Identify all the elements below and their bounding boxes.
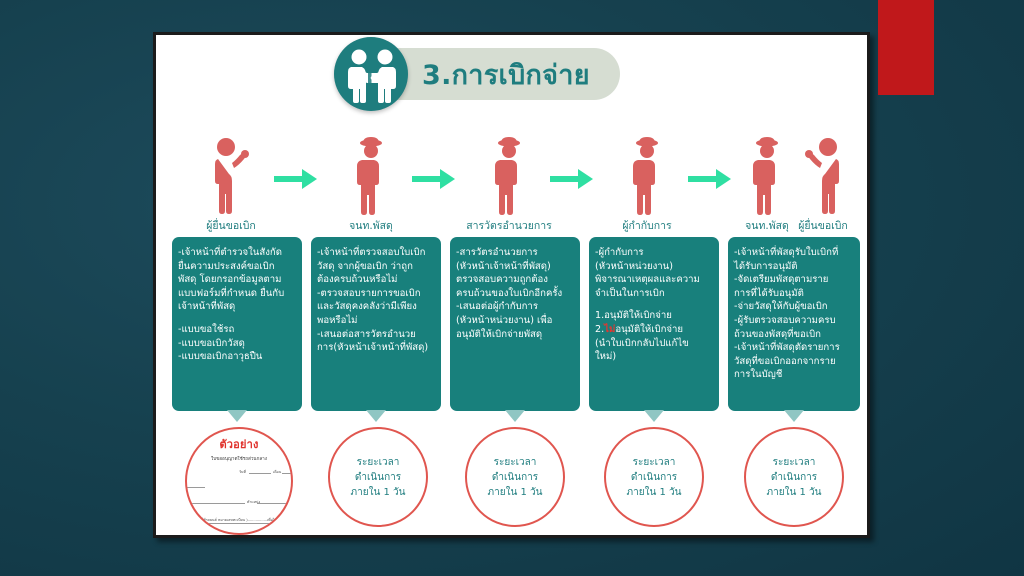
step-2-line-7: -เสนอต่อสารวัตรอำนวย (317, 328, 434, 342)
flow-arrow-3 (550, 167, 594, 191)
person-label-5: จนท.พัสดุ (745, 217, 789, 234)
person-figure-4 (627, 135, 667, 219)
step-3-line-4: ครบถ้วนของใบเบิกอีกครั้ง (456, 287, 573, 301)
step-2-line-5: และวัสดุคงคลังว่ามีเพียง (317, 300, 434, 314)
step-2-line-1: -เจ้าหน้าที่ตรวจสอบใบเบิก (317, 246, 434, 260)
step-box-1: -เจ้าหน้าที่ตำรวจในสังกัด ยื่นความประสงค… (172, 237, 302, 411)
step-1-line-5: เจ้าหน้าที่พัสดุ (178, 300, 295, 314)
step-1-line-4: แบบฟอร์มที่กำหนด ยื่นกับ (178, 287, 295, 301)
step-4-tail-icon (644, 410, 664, 422)
page-title: 3.การเบิกจ่าย (422, 53, 590, 96)
duration-circles-row: ตัวอย่าง ใบขออนุญาตใช้รถส่วนกลาง วันที่ … (156, 427, 870, 537)
step-2-line-6: พอหรือไม่ (317, 314, 434, 328)
step-5-line-2: ได้รับการอนุมัติ (734, 260, 853, 274)
person-label-2: จนท.พัสดุ (349, 217, 393, 234)
decorative-red-block (878, 0, 934, 95)
step-3-line-6: (หัวหน้าหน่วยงาน) เพื่อ (456, 314, 573, 328)
step-2-line-8: การ(หัวหน้าเจ้าหน้าที่พัสดุ) (317, 341, 434, 355)
process-step-boxes: -เจ้าหน้าที่ตำรวจในสังกัด ยื่นความประสงค… (156, 237, 870, 419)
step-4-line-3: พิจารณาเหตุผลและความ (595, 273, 712, 287)
duration-2-line-2: ดำเนินการ (492, 470, 538, 485)
sample-doc-rule-4 (187, 503, 245, 504)
step-3-line-3: ตรวจสอบความถูกต้อง (456, 273, 573, 287)
step-5-line-4: การที่ได้รับอนุมัติ (734, 287, 853, 301)
step-3-line-7: อนุมัติให้เบิกจ่ายพัสดุ (456, 328, 573, 342)
duration-3-line-3: ภายใน 1 วัน (627, 485, 682, 500)
sample-doc-rule-5 (257, 503, 293, 504)
duration-3-line-1: ระยะเวลา (633, 455, 676, 470)
person-figure-2 (351, 135, 391, 219)
two-people-handover-icon (334, 37, 408, 111)
person-label-3: สารวัตรอำนวยการ (466, 217, 552, 234)
step-5-line-5: -จ่ายวัสดุให้กับผู้ขอเบิก (734, 300, 853, 314)
step-5-line-7: ถ้วนของพัสดุที่ขอเบิก (734, 328, 853, 342)
step-5-line-10: การในบัญชี (734, 368, 853, 382)
person-figure-5 (747, 135, 787, 219)
step-2-tail-icon (366, 410, 386, 422)
step-4-option-2-prefix: 2. (595, 324, 604, 335)
step-5-line-1: -เจ้าหน้าที่พัสดุรับใบเบิกที่ (734, 246, 853, 260)
sample-doc-rule-1 (249, 473, 271, 474)
step-4-option-1: 1.อนุมัติให้เบิกจ่าย (595, 309, 712, 323)
flow-arrow-2 (412, 167, 456, 191)
duration-3-line-2: ดำเนินการ (631, 470, 677, 485)
sample-doc-field-month: เดือน (273, 469, 281, 475)
sample-doc-field-position: ตำแหน่ง (247, 499, 260, 505)
step-5-tail-icon (784, 410, 804, 422)
process-actors-row (156, 135, 870, 223)
sample-document-subtitle: ใบขออนุญาตใช้รถส่วนกลาง (187, 456, 291, 463)
step-2-line-4: -ตรวจสอบรายการขอเบิก (317, 287, 434, 301)
step-4-option-2-negation: ไม่ (604, 324, 615, 335)
sample-doc-rule-3 (187, 487, 205, 488)
duration-1-line-3: ภายใน 1 วัน (351, 485, 406, 500)
sample-doc-rule-6 (187, 523, 293, 524)
step-2-line-3: ต้องครบถ้วนหรือไม่ (317, 273, 434, 287)
step-3-line-5: -เสนอต่อผู้กำกับการ (456, 300, 573, 314)
step-4-note-2: ใหม่) (595, 350, 712, 364)
step-box-5: -เจ้าหน้าที่พัสดุรับใบเบิกที่ ได้รับการอ… (728, 237, 860, 411)
duration-4-line-3: ภายใน 1 วัน (767, 485, 822, 500)
step-4-line-1: -ผู้กำกับการ (595, 246, 712, 260)
duration-circle-1: ระยะเวลา ดำเนินการ ภายใน 1 วัน (328, 427, 428, 527)
step-4-option-1-prefix: 1. (595, 310, 604, 321)
sample-doc-field-date: วันที่ (239, 469, 246, 475)
step-2-line-2: วัสดุ จากผู้ขอเบิก ว่าถูก (317, 260, 434, 274)
duration-1-line-2: ดำเนินการ (355, 470, 401, 485)
step-1-form-2: -แบบขอเบิกวัสดุ (178, 337, 295, 351)
sample-doc-rule-2 (282, 473, 293, 474)
step-1-line-1: -เจ้าหน้าที่ตำรวจในสังกัด (178, 246, 295, 260)
step-4-line-4: จำเป็นในการเบิก (595, 287, 712, 301)
person-figure-3 (489, 135, 529, 219)
step-4-note-1: (นำใบเบิกกลับไปแก้ไข (595, 337, 712, 351)
duration-circle-4: ระยะเวลา ดำเนินการ ภายใน 1 วัน (744, 427, 844, 527)
duration-4-line-2: ดำเนินการ (771, 470, 817, 485)
step-5-line-6: -ผู้รับตรวจสอบความครบ (734, 314, 853, 328)
step-1-form-3: -แบบขอเบิกอาวุธปืน (178, 350, 295, 364)
duration-2-line-1: ระยะเวลา (494, 455, 537, 470)
sample-document-circle: ตัวอย่าง ใบขออนุญาตใช้รถส่วนกลาง วันที่ … (185, 427, 293, 535)
step-3-line-1: -สารวัตรอำนวยการ (456, 246, 573, 260)
step-5-line-3: -จัดเตรียมพัสดุตามราย (734, 273, 853, 287)
step-1-form-1: -แบบขอใช้รถ (178, 323, 295, 337)
duration-2-line-3: ภายใน 1 วัน (488, 485, 543, 500)
step-box-3: -สารวัตรอำนวยการ (หัวหน้าเจ้าหน้าที่พัสด… (450, 237, 580, 411)
step-1-line-3: พัสดุ โดยกรอกข้อมูลตาม (178, 273, 295, 287)
step-4-option-2: 2.ไม่อนุมัติให้เบิกจ่าย (595, 323, 712, 337)
person-label-6: ผู้ยื่นขอเบิก (798, 217, 848, 234)
flow-arrow-1 (274, 167, 318, 191)
person-figure-6 (801, 135, 845, 219)
flow-arrow-4 (688, 167, 732, 191)
step-4-option-1-text: อนุมัติให้เบิกจ่าย (604, 310, 672, 321)
step-3-tail-icon (505, 410, 525, 422)
step-4-line-2: (หัวหน้าหน่วยงาน) (595, 260, 712, 274)
step-box-4: -ผู้กำกับการ (หัวหน้าหน่วยงาน) พิจารณาเห… (589, 237, 719, 411)
step-box-2: -เจ้าหน้าที่ตรวจสอบใบเบิก วัสดุ จากผู้ขอ… (311, 237, 441, 411)
duration-circle-3: ระยะเวลา ดำเนินการ ภายใน 1 วัน (604, 427, 704, 527)
step-1-tail-icon (227, 410, 247, 422)
step-3-line-2: (หัวหน้าเจ้าหน้าที่พัสดุ) (456, 260, 573, 274)
sample-document: ตัวอย่าง ใบขออนุญาตใช้รถส่วนกลาง วันที่ … (187, 429, 291, 533)
slide-header: 3.การเบิกจ่าย (334, 48, 620, 100)
person-label-1: ผู้ยื่นขอเบิก (206, 217, 256, 234)
person-label-4: ผู้กำกับการ (622, 217, 671, 234)
person-figure-1 (209, 135, 253, 219)
sample-document-title: ตัวอย่าง (187, 435, 291, 453)
duration-1-line-1: ระยะเวลา (357, 455, 400, 470)
step-5-line-8: -เจ้าหน้าที่พัสดุตัดรายการ (734, 341, 853, 355)
step-4-option-2-text: อนุมัติให้เบิกจ่าย (615, 324, 683, 335)
duration-4-line-1: ระยะเวลา (773, 455, 816, 470)
step-5-line-9: วัสดุที่ขอเบิกออกจากราย (734, 355, 853, 369)
step-1-line-2: ยื่นความประสงค์ขอเบิก (178, 260, 295, 274)
actor-labels-row: ผู้ยื่นขอเบิก จนท.พัสดุ สารวัตรอำนวยการ … (156, 217, 870, 239)
slide-panel: 3.การเบิกจ่าย (153, 32, 870, 538)
duration-circle-2: ระยะเวลา ดำเนินการ ภายใน 1 วัน (465, 427, 565, 527)
